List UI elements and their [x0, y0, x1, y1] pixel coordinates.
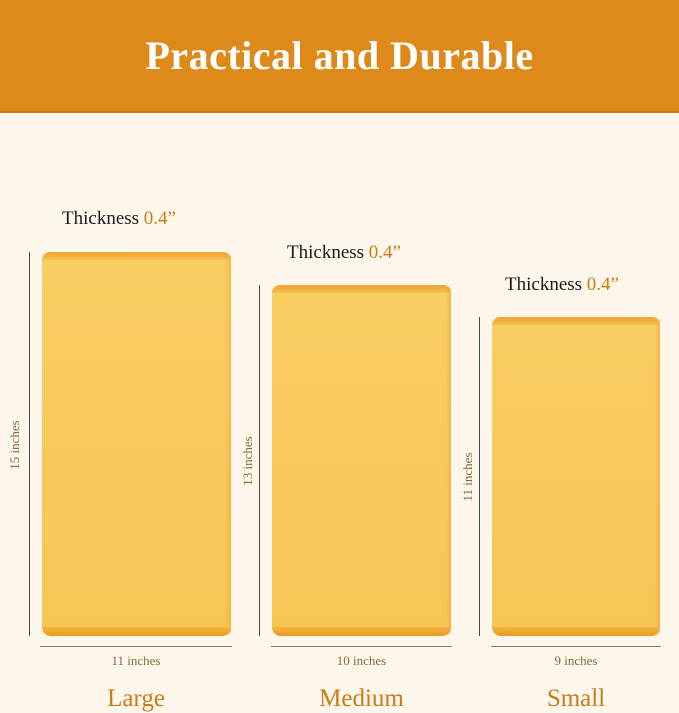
thickness-label-small: Thickness 0.4”: [505, 274, 619, 296]
board-thickness-edge-small: [492, 627, 660, 636]
board-top-edge-small: [492, 317, 660, 325]
page-title: Practical and Durable: [145, 32, 533, 79]
board-small: [492, 317, 660, 636]
product-group-small: Thickness 0.4” 11 inches 9 inches Small: [0, 113, 679, 679]
header-banner: Practical and Durable: [0, 0, 679, 113]
thickness-value-small: 0.4”: [587, 274, 619, 295]
size-name-medium: Medium: [271, 685, 452, 713]
thickness-caption-small: Thickness: [505, 274, 582, 295]
width-measure-label-small: 9 inches: [491, 653, 661, 669]
board-right-edge-small: [655, 317, 660, 636]
size-comparison-diagram: Thickness 0.4” 15 inches 11 inches Large…: [0, 113, 679, 679]
height-measure-label-small: 11 inches: [460, 437, 476, 517]
width-measure-line-small: [491, 646, 661, 647]
size-name-large: Large: [40, 685, 232, 713]
height-measure-line-small: [479, 317, 480, 636]
size-name-small: Small: [491, 685, 661, 713]
